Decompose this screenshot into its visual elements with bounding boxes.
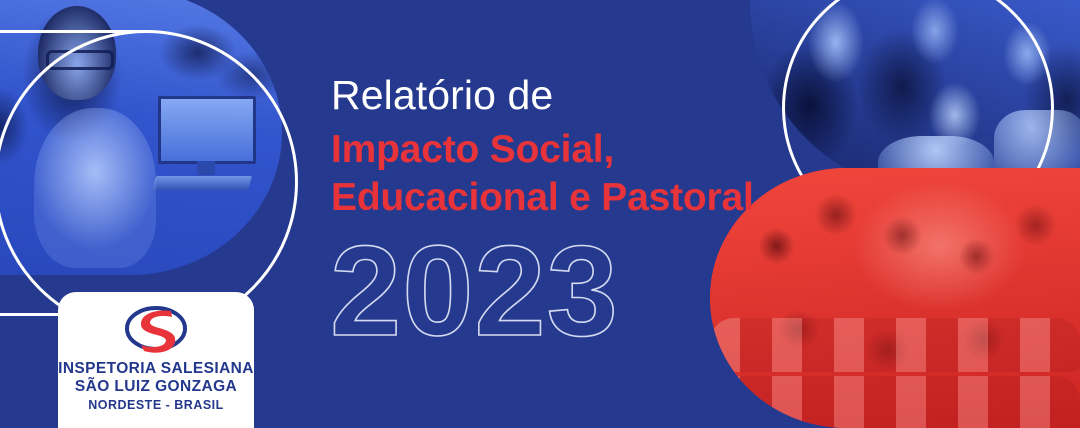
logo-line-1: INSPETORIA SALESIANA xyxy=(58,360,254,378)
report-cover-banner: Relatório de Impacto Social, Educacional… xyxy=(0,0,1080,428)
logo-text-block: INSPETORIA SALESIANA SÃO LUIZ GONZAGA NO… xyxy=(58,360,254,413)
students-row-shape-1 xyxy=(710,318,1080,372)
arc-left-line-top xyxy=(0,30,150,33)
headline-block: Relatório de Impacto Social, Educacional… xyxy=(331,70,801,222)
headline-line-3: Educacional e Pastoral xyxy=(331,174,801,222)
headline-line-2: Impacto Social, xyxy=(331,126,801,174)
headline-line-1: Relatório de xyxy=(331,70,801,120)
logo-card: INSPETORIA SALESIANA SÃO LUIZ GONZAGA NO… xyxy=(58,292,254,428)
salesian-s-emblem-icon xyxy=(113,301,199,356)
arc-left xyxy=(0,30,298,334)
logo-line-2: SÃO LUIZ GONZAGA xyxy=(58,378,254,396)
students-row-shape-2 xyxy=(710,376,1080,428)
year-outline-text: 2023 xyxy=(330,228,619,356)
logo-line-3: NORDESTE - BRASIL xyxy=(58,397,254,413)
